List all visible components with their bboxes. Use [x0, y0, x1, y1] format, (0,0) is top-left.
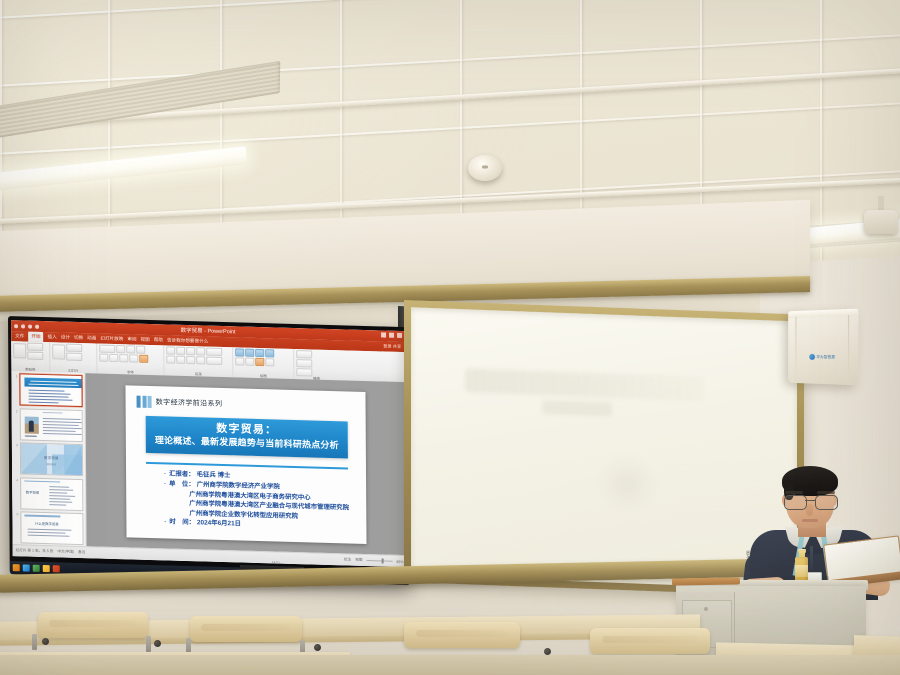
- portrait-photo: [24, 416, 38, 433]
- start-button[interactable]: [13, 564, 20, 571]
- chair-knob: [544, 648, 551, 655]
- quick-styles-icon[interactable]: [245, 358, 254, 366]
- floor: [0, 655, 900, 675]
- tell-me-box[interactable]: 告诉我你想要做什么: [167, 337, 208, 344]
- header-bars-icon: [137, 395, 152, 407]
- bullet-dot-icon: ·: [164, 520, 167, 527]
- thumbnail-row[interactable]: 2: [14, 408, 83, 442]
- thumbnail-number: 2: [14, 408, 18, 440]
- bullet-dot-icon: ·: [164, 481, 167, 488]
- thumbnail-row[interactable]: 5 什么是数字贸易: [14, 511, 83, 545]
- smoke-detector-icon: [468, 155, 502, 181]
- tab-slideshow[interactable]: 幻灯片放映: [100, 336, 123, 343]
- bullet-label: 单 位：: [169, 480, 195, 488]
- chair-back: [404, 622, 520, 648]
- nose: [806, 504, 813, 516]
- shirt-placket: [810, 546, 813, 570]
- explorer-icon[interactable]: [43, 565, 50, 572]
- wall-speaker: 华为智慧屏: [788, 309, 858, 386]
- signin-share[interactable]: 登录 共享: [383, 343, 401, 350]
- align-center-icon[interactable]: [176, 356, 185, 364]
- minimize-icon[interactable]: [381, 332, 386, 337]
- decrease-indent-icon[interactable]: [186, 347, 195, 355]
- font-size-select[interactable]: [116, 345, 125, 353]
- tab-animations[interactable]: 动画: [87, 335, 96, 341]
- slide-thumbnail-4[interactable]: 数字贸易: [20, 477, 84, 511]
- italic-icon[interactable]: [109, 354, 118, 362]
- chair-back: [38, 612, 148, 638]
- thumbnail-subcaption: 理论概述: [46, 462, 56, 466]
- increase-indent-icon[interactable]: [196, 347, 205, 355]
- slide-thumbnail-2[interactable]: [19, 408, 83, 442]
- shadow-icon[interactable]: [129, 354, 138, 362]
- chair-knob: [314, 644, 321, 651]
- thumbnail-number: 4: [14, 477, 18, 509]
- undo-icon[interactable]: [21, 324, 25, 328]
- lecture-hall-photo: 数字贸易 - PowerPoint 文件 开始 插入 设计 切换 动画 幻灯片放…: [0, 0, 900, 675]
- shape-circle-icon[interactable]: [245, 349, 254, 357]
- ribbon-group-font[interactable]: 字体: [97, 343, 164, 375]
- lectern-wood-trim: [672, 577, 740, 585]
- tab-design[interactable]: 设计: [61, 334, 70, 340]
- monitor-brand-label: MSI: [272, 560, 280, 565]
- tab-view[interactable]: 视图: [141, 337, 150, 343]
- thumbnail-caption: 什么是数字贸易: [35, 521, 59, 527]
- bold-icon[interactable]: [99, 354, 108, 362]
- chair-post: [32, 634, 37, 650]
- powerpoint-icon[interactable]: [53, 565, 60, 572]
- chair-knob: [154, 640, 161, 647]
- close-icon[interactable]: [397, 333, 402, 338]
- select-icon[interactable]: [296, 368, 312, 376]
- bullet-value: 广州商学院数字经济产业学院: [197, 481, 280, 491]
- slide-header: 数字经济学前沿系列: [137, 395, 223, 409]
- document-title: 数字贸易 - PowerPoint: [181, 326, 236, 336]
- tab-help[interactable]: 帮助: [154, 337, 163, 343]
- view-buttons[interactable]: 视图: [355, 558, 362, 563]
- line-spacing-icon[interactable]: [206, 348, 222, 356]
- font-color-icon[interactable]: [139, 355, 148, 363]
- grow-font-icon[interactable]: [126, 345, 135, 353]
- tab-transitions[interactable]: 切换: [74, 335, 83, 341]
- numbering-icon[interactable]: [176, 347, 185, 355]
- bullet-dot-icon: ·: [164, 471, 167, 478]
- ribbon-group-editing[interactable]: 编辑: [294, 349, 338, 380]
- bullet-value: 2024年6月21日: [197, 520, 241, 529]
- slide-canvas[interactable]: 数字经济学前沿系列 数字贸易： 理论概述、最新发展趋势与当前科研热点分析 ·: [85, 373, 406, 555]
- cut-icon[interactable]: [27, 343, 43, 351]
- replace-icon[interactable]: [296, 359, 312, 367]
- slide-header-text: 数字经济学前沿系列: [156, 397, 223, 409]
- thumbnail-row[interactable]: 3 数字贸易 理论概述: [14, 442, 83, 476]
- bullet-label: 时 间：: [169, 519, 195, 527]
- title-underline: [146, 461, 348, 469]
- zoom-level[interactable]: 66%: [396, 559, 403, 563]
- slide-thumbnail-1[interactable]: [19, 373, 83, 407]
- wall-mounted-display[interactable]: 数字贸易 - PowerPoint 文件 开始 插入 设计 切换 动画 幻灯片放…: [8, 316, 410, 585]
- speaker-logo: 华为智慧屏: [809, 354, 835, 360]
- bullet-label: 汇报者：: [169, 470, 195, 478]
- slide-thumbnail-pane[interactable]: 1: [11, 371, 86, 546]
- ribbon-group-paragraph[interactable]: 段落: [164, 345, 233, 377]
- comments-button[interactable]: 批注: [344, 557, 351, 562]
- speaker-logo-text: 华为智慧屏: [816, 354, 835, 359]
- window-controls[interactable]: [381, 332, 402, 338]
- thumbnail-number: 1: [13, 373, 17, 405]
- thumbnail-caption: 数字贸易: [44, 456, 58, 461]
- arrange-icon[interactable]: [235, 357, 244, 365]
- shape-line-icon[interactable]: [265, 349, 274, 357]
- notes-button[interactable]: 备注: [78, 550, 85, 555]
- columns-icon[interactable]: [206, 357, 222, 365]
- bullets-icon[interactable]: [166, 346, 175, 354]
- tab-review[interactable]: 审阅: [127, 336, 136, 342]
- shape-fill-icon[interactable]: [255, 358, 264, 366]
- chair-back: [190, 616, 302, 642]
- underline-icon[interactable]: [119, 354, 128, 362]
- thumbnail-row[interactable]: 1: [13, 373, 82, 407]
- brand-mark-icon: [809, 354, 815, 360]
- zoom-slider[interactable]: [366, 560, 392, 562]
- bullet-value: 毛征兵 博士: [197, 471, 231, 479]
- bottle-label: [795, 565, 808, 577]
- slide-title-block: 数字贸易： 理论概述、最新发展趋势与当前科研热点分析: [146, 415, 348, 458]
- thumbnail-row[interactable]: 4 数字贸易: [14, 477, 83, 511]
- thumbnail-caption: 数字贸易: [26, 489, 40, 494]
- ribbon-group-clipboard[interactable]: 剪贴板: [11, 341, 50, 372]
- thumbnail-number: 3: [14, 442, 18, 474]
- powerpoint-window[interactable]: 数字贸易 - PowerPoint 文件 开始 插入 设计 切换 动画 幻灯片放…: [11, 320, 407, 567]
- slide-bullets: · 汇报者： 毛征兵 博士 · 单 位： 广州商学院数字经济产业学院: [164, 470, 360, 534]
- maximize-icon[interactable]: [389, 333, 394, 338]
- shrink-font-icon[interactable]: [136, 346, 145, 354]
- thumbnail-number: 5: [14, 511, 18, 543]
- chair-back: [590, 628, 710, 654]
- shape-rect-icon[interactable]: [235, 348, 244, 356]
- eyebrow-right: [817, 491, 835, 494]
- tab-file[interactable]: 文件: [15, 333, 24, 339]
- save-icon[interactable]: [14, 324, 18, 328]
- find-icon[interactable]: [296, 350, 312, 358]
- justify-icon[interactable]: [196, 356, 205, 364]
- slide-thumbnail-3[interactable]: 数字贸易 理论概述: [19, 442, 83, 476]
- font-family-select[interactable]: [99, 345, 115, 353]
- whiteboard[interactable]: 数字贸易 2024.6.21: [411, 307, 797, 589]
- align-right-icon[interactable]: [186, 356, 195, 364]
- align-left-icon[interactable]: [166, 355, 175, 363]
- search-icon[interactable]: [23, 564, 30, 571]
- ribbon-group-drawing[interactable]: 绘图: [233, 347, 294, 379]
- layout-icon[interactable]: [66, 344, 82, 352]
- new-slide-icon[interactable]: [52, 344, 65, 359]
- mouth: [802, 519, 818, 522]
- copy-icon[interactable]: [27, 352, 43, 360]
- tab-insert[interactable]: 插入: [48, 334, 57, 340]
- shape-arrow-icon[interactable]: [255, 349, 264, 357]
- eyebrow-left: [785, 491, 803, 494]
- slide-indicator: 幻灯片 第 1 张，共 5 张: [16, 548, 54, 554]
- ceiling-projector-mount: [864, 196, 900, 236]
- chair-post: [146, 636, 151, 652]
- paste-icon[interactable]: [13, 343, 26, 358]
- browser-icon[interactable]: [33, 565, 40, 572]
- slideshow-icon[interactable]: [35, 324, 39, 328]
- tab-home[interactable]: 开始: [28, 332, 43, 342]
- slide-thumbnail-5[interactable]: 什么是数字贸易: [20, 511, 84, 545]
- current-slide[interactable]: 数字经济学前沿系列 数字贸易： 理论概述、最新发展趋势与当前科研热点分析 ·: [125, 385, 366, 544]
- shape-outline-icon[interactable]: [265, 358, 274, 366]
- reset-icon[interactable]: [66, 353, 82, 361]
- redo-icon[interactable]: [28, 324, 32, 328]
- language-indicator[interactable]: 中文(中国): [57, 549, 74, 554]
- ribbon-group-slides[interactable]: 幻灯片: [50, 342, 97, 373]
- chair-knob: [42, 638, 49, 645]
